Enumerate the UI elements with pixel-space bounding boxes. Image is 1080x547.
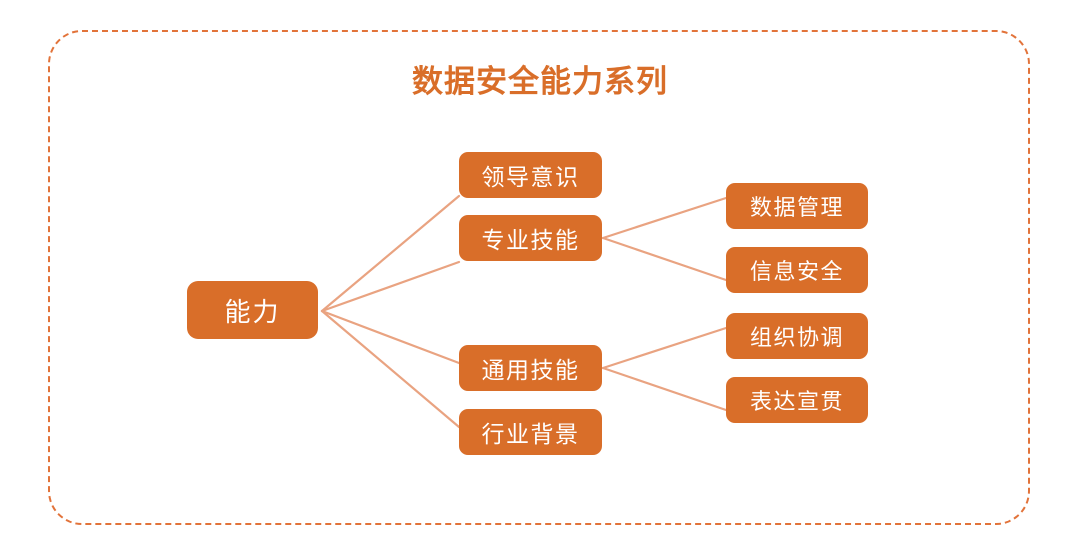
connector-root-to-leadership	[322, 196, 459, 311]
node-information-security-label: 信息安全	[750, 254, 844, 286]
node-professional-skills[interactable]: 专业技能	[459, 215, 602, 261]
node-leadership-awareness[interactable]: 领导意识	[459, 152, 602, 198]
node-leadership-awareness-label: 领导意识	[482, 158, 580, 192]
node-industry-background[interactable]: 行业背景	[459, 409, 602, 455]
node-expression-promotion[interactable]: 表达宣贯	[726, 377, 868, 423]
node-organizational-coordination-label: 组织协调	[750, 320, 844, 352]
node-professional-skills-label: 专业技能	[482, 221, 580, 255]
diagram-canvas: 数据安全能力系列 能力 领导意识 专业技能 通用技能 行业背景 数据管理	[0, 0, 1080, 547]
connector-general-to-communication	[603, 368, 726, 410]
connector-general-to-coordination	[603, 328, 726, 368]
node-data-management-label: 数据管理	[750, 190, 844, 222]
connector-professional-to-infosec	[603, 238, 726, 280]
node-root-capability[interactable]: 能力	[187, 281, 318, 339]
connector-professional-to-data-mgmt	[603, 198, 726, 238]
connector-root-to-industry	[322, 311, 459, 427]
node-general-skills[interactable]: 通用技能	[459, 345, 602, 391]
node-industry-background-label: 行业背景	[482, 415, 580, 449]
node-organizational-coordination[interactable]: 组织协调	[726, 313, 868, 359]
node-general-skills-label: 通用技能	[482, 351, 580, 385]
connector-root-to-professional	[322, 262, 459, 311]
node-information-security[interactable]: 信息安全	[726, 247, 868, 293]
node-root-label: 能力	[224, 292, 280, 329]
connector-lines	[0, 0, 1080, 547]
node-data-management[interactable]: 数据管理	[726, 183, 868, 229]
connector-root-to-general	[322, 311, 459, 363]
node-expression-promotion-label: 表达宣贯	[750, 384, 844, 416]
